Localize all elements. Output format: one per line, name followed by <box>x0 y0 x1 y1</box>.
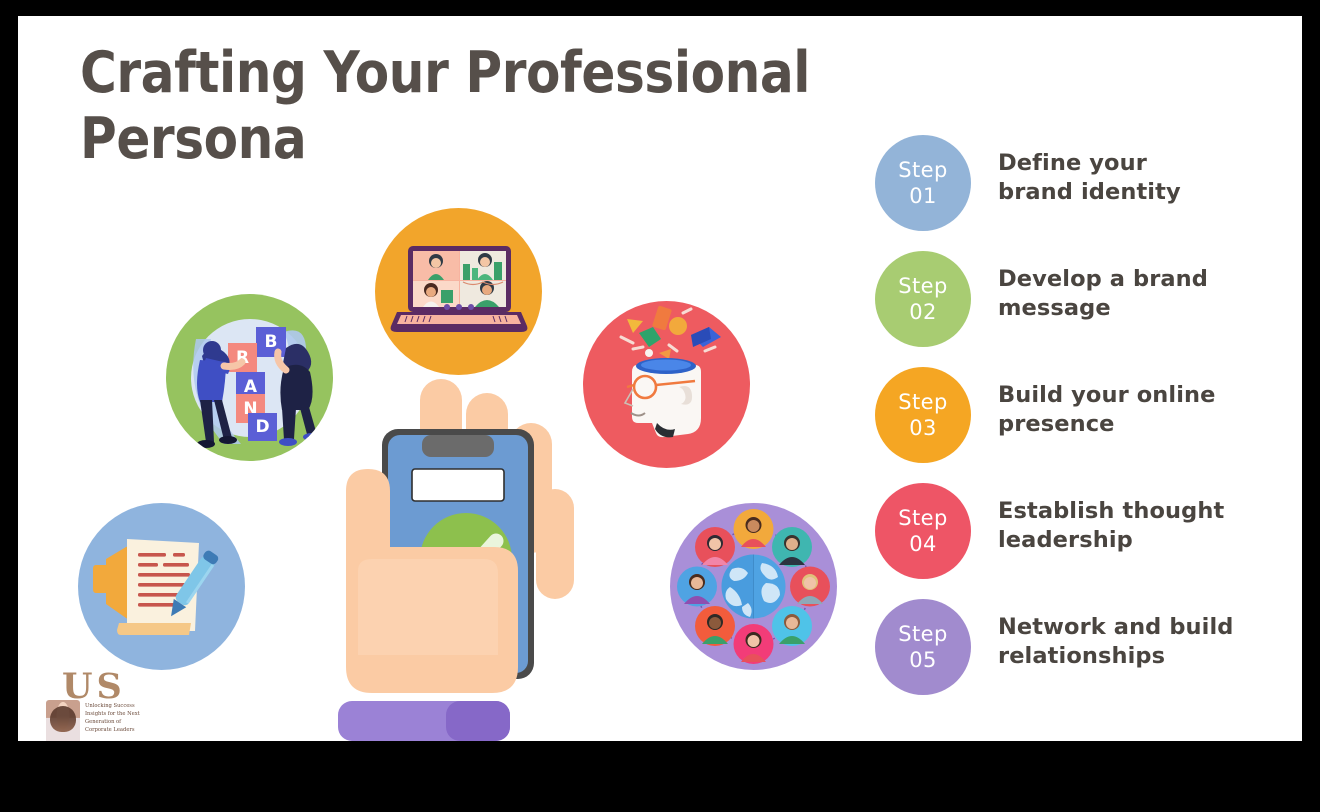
step-label-02: Develop a brand message <box>998 265 1208 324</box>
step-badge-number: 04 <box>909 531 937 557</box>
step-badge-02[interactable]: Step 02 <box>875 251 971 347</box>
step-badge-01[interactable]: Step 01 <box>875 135 971 231</box>
laptop-video-call-icon <box>375 208 542 375</box>
step-badge-number: 03 <box>909 415 937 441</box>
logo-monogram: US <box>62 666 126 707</box>
step-badge-03[interactable]: Step 03 <box>875 367 971 463</box>
slide-canvas: Crafting Your Professional Persona B R A… <box>18 16 1302 741</box>
step-row-03[interactable]: Step 03 Build your online presence <box>875 367 1275 483</box>
step-badge-04[interactable]: Step 04 <box>875 483 971 579</box>
step-row-05[interactable]: Step 05 Network and build relationships <box>875 599 1275 715</box>
step-label-04: Establish thought leadership <box>998 497 1224 556</box>
step-badge-word: Step <box>898 273 947 299</box>
step-label-03: Build your online presence <box>998 381 1215 440</box>
step-badge-05[interactable]: Step 05 <box>875 599 971 695</box>
document-megaphone-icon <box>78 503 245 670</box>
step-badge-word: Step <box>898 621 947 647</box>
step-badge-word: Step <box>898 389 947 415</box>
step-badge-word: Step <box>898 157 947 183</box>
hand-holding-phone-profile-icon <box>318 371 598 741</box>
step-badge-number: 05 <box>909 647 937 673</box>
person-left <box>197 341 242 448</box>
steps-list: Step 01 Define your brand identity Step … <box>875 135 1275 715</box>
global-network-people-icon <box>670 503 837 670</box>
step-badge-number: 01 <box>909 183 937 209</box>
step-badge-word: Step <box>898 505 947 531</box>
step-row-01[interactable]: Step 01 Define your brand identity <box>875 135 1275 251</box>
open-mind-head-icon <box>583 301 750 468</box>
page-title: Crafting Your Professional Persona <box>80 40 819 172</box>
step-label-05: Network and build relationships <box>998 613 1233 672</box>
step-label-01: Define your brand identity <box>998 149 1181 208</box>
step-row-04[interactable]: Step 04 Establish thought leadership <box>875 483 1275 599</box>
brand-logo: US Unlocking Success Insights for the Ne… <box>32 666 147 741</box>
logo-tagline: Unlocking Success Insights for the Next … <box>85 702 147 734</box>
step-badge-number: 02 <box>909 299 937 325</box>
step-row-02[interactable]: Step 02 Develop a brand message <box>875 251 1275 367</box>
person-right <box>278 344 321 446</box>
brand-blocks-icon: B R A N D <box>166 294 333 461</box>
